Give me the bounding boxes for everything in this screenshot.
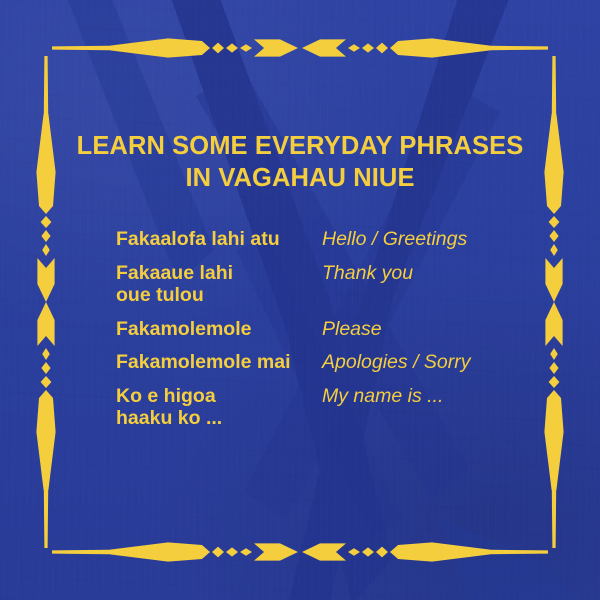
niuean-phrase-line-1: Fakaaue lahi — [116, 262, 233, 284]
english-translation: Apologies / Sorry — [322, 351, 536, 374]
niuean-phrase-line-1: Fakamolemole mai — [116, 351, 291, 373]
phrase-table: Fakaalofa lahi atu Hello / Greetings Fak… — [116, 228, 536, 430]
niuean-phrase: Fakaaue lahi oue tulou — [116, 262, 322, 307]
english-translation: My name is ... — [322, 385, 536, 408]
niuean-phrase: Ko e higoa haaku ko ... — [116, 385, 322, 430]
title-line-1: LEARN SOME EVERYDAY PHRASES — [0, 130, 600, 162]
niuean-phrase: Fakamolemole mai — [116, 351, 322, 374]
niuean-phrase: Fakamolemole — [116, 318, 322, 341]
english-translation: Thank you — [322, 262, 536, 285]
phrase-row: Fakaaue lahi oue tulou Thank you — [116, 262, 536, 307]
niuean-phrase-line-1: Fakaalofa lahi atu — [116, 228, 280, 250]
english-translation: Hello / Greetings — [322, 228, 536, 251]
phrase-row: Fakaalofa lahi atu Hello / Greetings — [116, 228, 536, 251]
english-translation: Please — [322, 318, 536, 341]
title-line-2: IN VAGAHAU NIUE — [0, 162, 600, 194]
phrase-row: Fakamolemole mai Apologies / Sorry — [116, 351, 536, 374]
niuean-phrase: Fakaalofa lahi atu — [116, 228, 322, 251]
poster-content: LEARN SOME EVERYDAY PHRASES IN VAGAHAU N… — [0, 0, 600, 600]
niuean-phrase-line-2: haaku ko ... — [116, 407, 322, 430]
phrase-row: Fakamolemole Please — [116, 318, 536, 341]
page-title: LEARN SOME EVERYDAY PHRASES IN VAGAHAU N… — [0, 130, 600, 194]
niue-phrases-poster: LEARN SOME EVERYDAY PHRASES IN VAGAHAU N… — [0, 0, 600, 600]
niuean-phrase-line-2: oue tulou — [116, 284, 322, 307]
niuean-phrase-line-1: Ko e higoa — [116, 385, 216, 407]
niuean-phrase-line-1: Fakamolemole — [116, 318, 251, 340]
phrase-row: Ko e higoa haaku ko ... My name is ... — [116, 385, 536, 430]
